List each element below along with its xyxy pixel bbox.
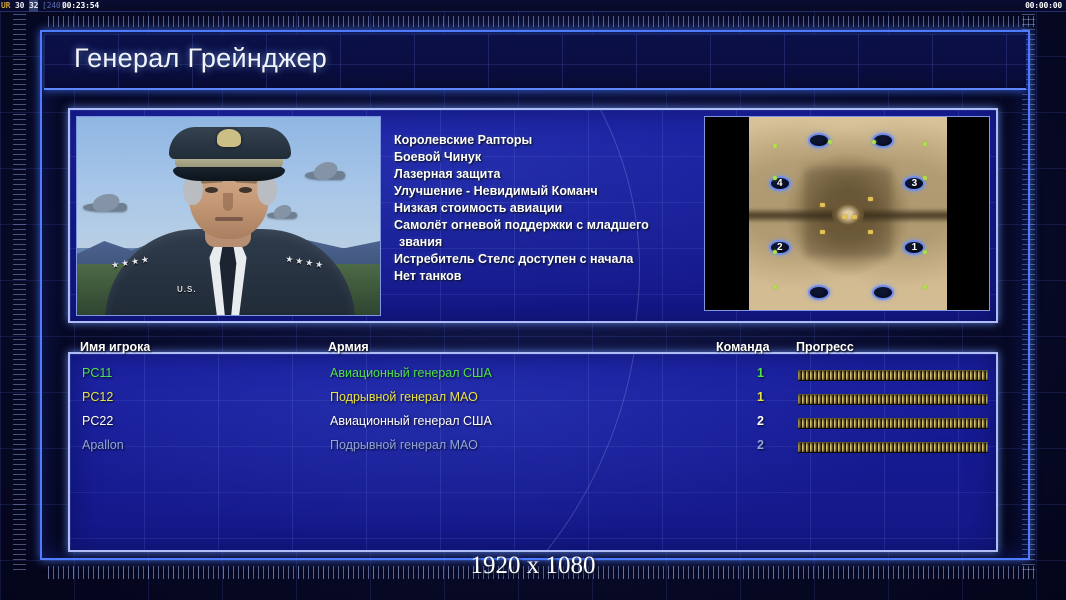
aircraft-icon [267, 212, 297, 218]
map-supply-icon [923, 142, 927, 146]
column-header-army: Армия [328, 340, 369, 354]
cell-army: Авиационный генерал США [330, 366, 492, 380]
cell-player-name: PC22 [82, 414, 113, 428]
cell-team: 1 [742, 366, 764, 380]
map-supply-icon [773, 250, 777, 254]
eye-right [239, 187, 252, 193]
map-center-feature [832, 201, 864, 228]
eye-left [205, 187, 218, 193]
general-portrait: ★★★★ ★★★★ U.S. [76, 116, 381, 316]
cell-team: 1 [742, 390, 764, 404]
map-start-position-1[interactable]: 1 [903, 240, 925, 255]
cell-team: 2 [742, 438, 764, 452]
cell-progress-bar [798, 370, 988, 381]
eagle-crest-icon [217, 129, 241, 147]
map-supply-icon [923, 250, 927, 254]
top-status-bar: UR 30 32 [240] 00:23:54 00:00:00 [0, 0, 1066, 12]
map-oil-derrick-icon [820, 203, 825, 207]
map-supply-icon [923, 176, 927, 180]
column-header-progress: Прогресс [796, 340, 854, 354]
ability-line: Боевой Чинук [394, 149, 694, 166]
map-supply-icon [828, 140, 832, 144]
fps-value: 30 [15, 0, 24, 12]
map-oil-derrick-icon [868, 230, 873, 234]
roster-table-header: Имя игрока Армия Команда Прогресс [68, 340, 998, 359]
mouth [215, 217, 243, 221]
cell-army: Авиационный генерал США [330, 414, 492, 428]
ruler-left [13, 14, 26, 572]
cell-player-name: Apallon [82, 438, 124, 452]
map-oil-derrick-icon [868, 197, 873, 201]
session-timer: 00:23:54 [62, 0, 99, 12]
cell-player-name: PC12 [82, 390, 113, 404]
ability-line: звания [394, 234, 694, 251]
ability-line: Королевские Рапторы [394, 132, 694, 149]
table-row[interactable]: PC11Авиационный генерал США1 [70, 366, 996, 390]
map-start-position[interactable] [808, 133, 830, 148]
cell-team: 2 [742, 414, 764, 428]
column-header-team: Команда [716, 340, 770, 354]
ability-line: Лазерная защита [394, 166, 694, 183]
ruler-top [48, 16, 1038, 27]
frame-value: 32 [29, 0, 38, 12]
service-tab: U.S. [177, 285, 197, 294]
page-title: Генерал Грейнджер [74, 43, 327, 74]
map-start-position[interactable] [872, 285, 894, 300]
table-row[interactable]: PC12Подрывной генерал МАО1 [70, 390, 996, 414]
secondary-timer: 00:00:00 [1025, 0, 1062, 12]
resolution-caption: 1920 x 1080 [0, 552, 1066, 580]
map-oil-derrick-icon [852, 215, 857, 219]
cell-progress-bar [798, 418, 988, 429]
aircraft-icon [305, 171, 345, 179]
table-row[interactable]: PC22Авиационный генерал США2 [70, 414, 996, 438]
map-oil-derrick-icon [820, 230, 825, 234]
map-supply-icon [923, 285, 927, 289]
map-start-position-3[interactable]: 3 [903, 176, 925, 191]
general-ability-list: Королевские РапторыБоевой ЧинукЛазерная … [394, 132, 694, 285]
ability-line: Нет танков [394, 268, 694, 285]
aircraft-icon [83, 203, 127, 211]
map-supply-icon [773, 285, 777, 289]
ability-line: Истребитель Стелс доступен с начала [394, 251, 694, 268]
fps-label: UR [1, 0, 10, 12]
cell-army: Подрывной генерал МАО [330, 438, 478, 452]
cell-player-name: PC11 [82, 366, 112, 380]
column-header-player-name: Имя игрока [80, 340, 150, 354]
map-oil-derrick-icon [842, 215, 847, 219]
cell-army: Подрывной генерал МАО [330, 390, 478, 404]
map-supply-icon [773, 176, 777, 180]
ability-line: Самолёт огневой поддержки с младшего [394, 217, 694, 234]
map-supply-icon [773, 144, 777, 148]
map-preview-frame[interactable]: 4321 [704, 116, 990, 311]
table-row[interactable]: ApallonПодрывной генерал МАО2 [70, 438, 996, 462]
player-roster-panel: PC11Авиационный генерал США1PC12Подрывно… [68, 352, 998, 552]
ability-line: Улучшение - Невидимый Команч [394, 183, 694, 200]
map-preview[interactable]: 4321 [749, 117, 947, 311]
nose [223, 193, 233, 211]
map-start-position[interactable] [808, 285, 830, 300]
cell-progress-bar [798, 442, 988, 453]
cell-progress-bar [798, 394, 988, 405]
general-info-panel: ★★★★ ★★★★ U.S. Королевские РапторыБоевой… [68, 108, 998, 323]
title-panel: Генерал Грейнджер [44, 34, 1026, 90]
ability-line: Низкая стоимость авиации [394, 200, 694, 217]
